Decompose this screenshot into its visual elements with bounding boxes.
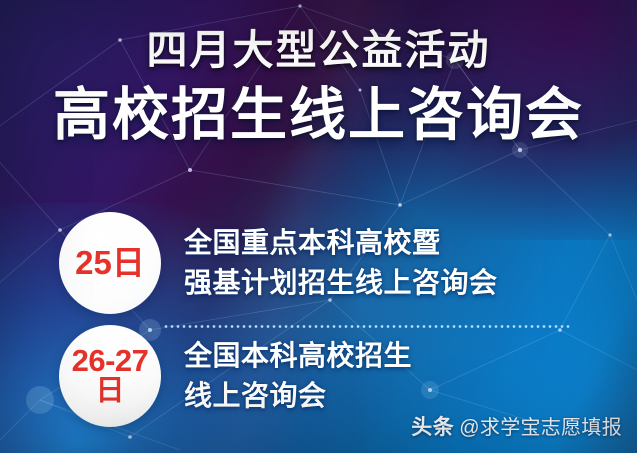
title-block: 四月大型公益活动 高校招生线上咨询会 [0,30,637,144]
schedule-list: 25日 全国重点本科高校暨 强基计划招生线上咨询会 26-27 日 全国本科高校… [0,206,637,432]
schedule-row-text: 全国重点本科高校暨 强基计划招生线上咨询会 [184,223,498,303]
watermark-handle: @求学宝志愿填报 [459,411,622,440]
date-badge-line2: 日 [95,377,124,407]
schedule-text-line2: 强基计划招生线上咨询会 [184,263,498,303]
schedule-text-line1: 全国本科高校招生 [184,336,412,376]
watermark: 头条 @求学宝志愿填报 [411,411,622,441]
promotional-poster: 四月大型公益活动 高校招生线上咨询会 25日 全国重点本科高校暨 强基计划招生线… [0,0,637,453]
dotted-divider [163,325,570,328]
subtitle-text: 四月大型公益活动 [0,30,637,71]
date-badge: 26-27 日 [59,325,161,427]
page-title: 高校招生线上咨询会 [0,87,637,144]
watermark-brand: 头条 [411,411,454,441]
schedule-row: 25日 全国重点本科高校暨 强基计划招生线上咨询会 [0,206,637,319]
date-badge-line1: 25日 [75,246,145,280]
date-badge: 25日 [59,212,161,314]
date-badge-line1: 26-27 [72,345,149,377]
schedule-row-text: 全国本科高校招生 线上咨询会 [184,336,412,416]
schedule-text-line2: 线上咨询会 [184,376,412,416]
schedule-text-line1: 全国重点本科高校暨 [184,223,498,263]
